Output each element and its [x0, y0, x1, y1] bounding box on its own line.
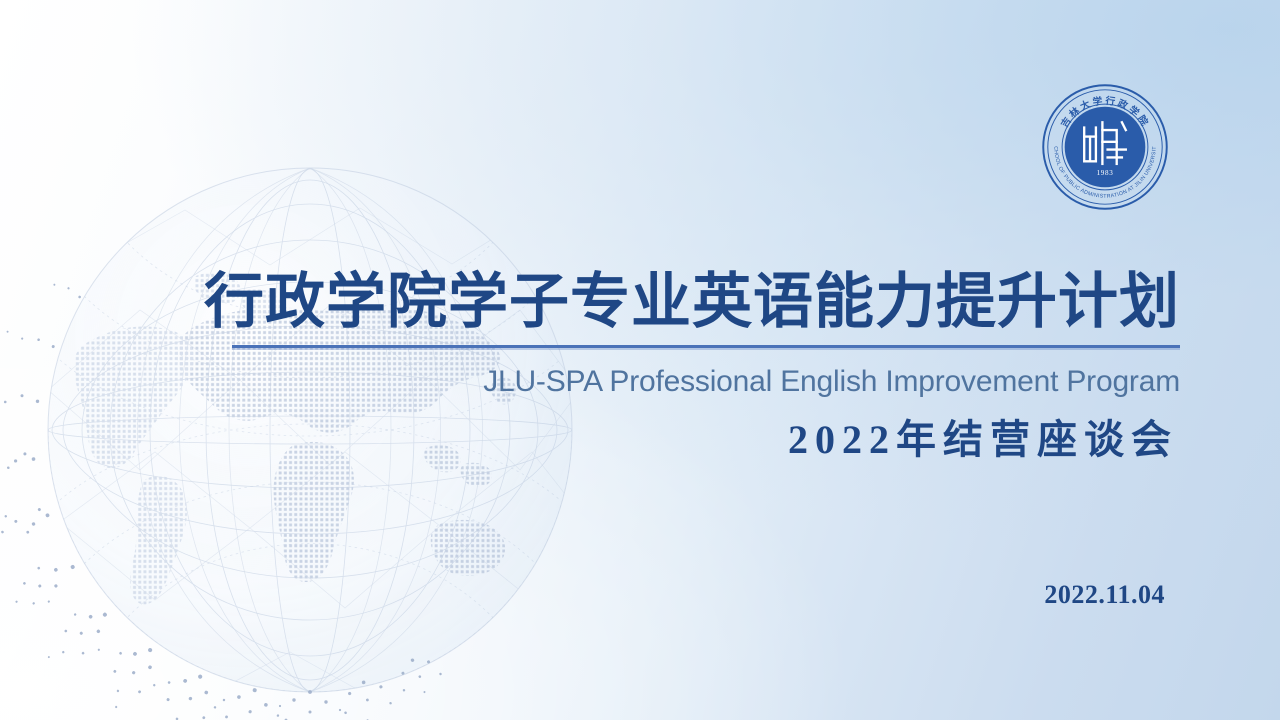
jlu-spa-logo: 吉林大学行政学院 SCHOOL OF PUBLIC ADMINISTRATION… — [1040, 82, 1170, 212]
title-text-block: 行政学院学子专业英语能力提升计划 JLU-SPA Professional En… — [120, 265, 1180, 465]
subtitle-chinese: 2022年结营座谈会 — [120, 415, 1180, 465]
slide-date: 2022.11.04 — [120, 580, 1165, 610]
svg-text:1983: 1983 — [1097, 169, 1114, 177]
subtitle-english: JLU-SPA Professional English Improvement… — [120, 365, 1180, 399]
title-divider — [232, 345, 1180, 348]
title-slide: 吉林大学行政学院 SCHOOL OF PUBLIC ADMINISTRATION… — [0, 0, 1280, 720]
page-title: 行政学院学子专业英语能力提升计划 — [120, 265, 1180, 339]
